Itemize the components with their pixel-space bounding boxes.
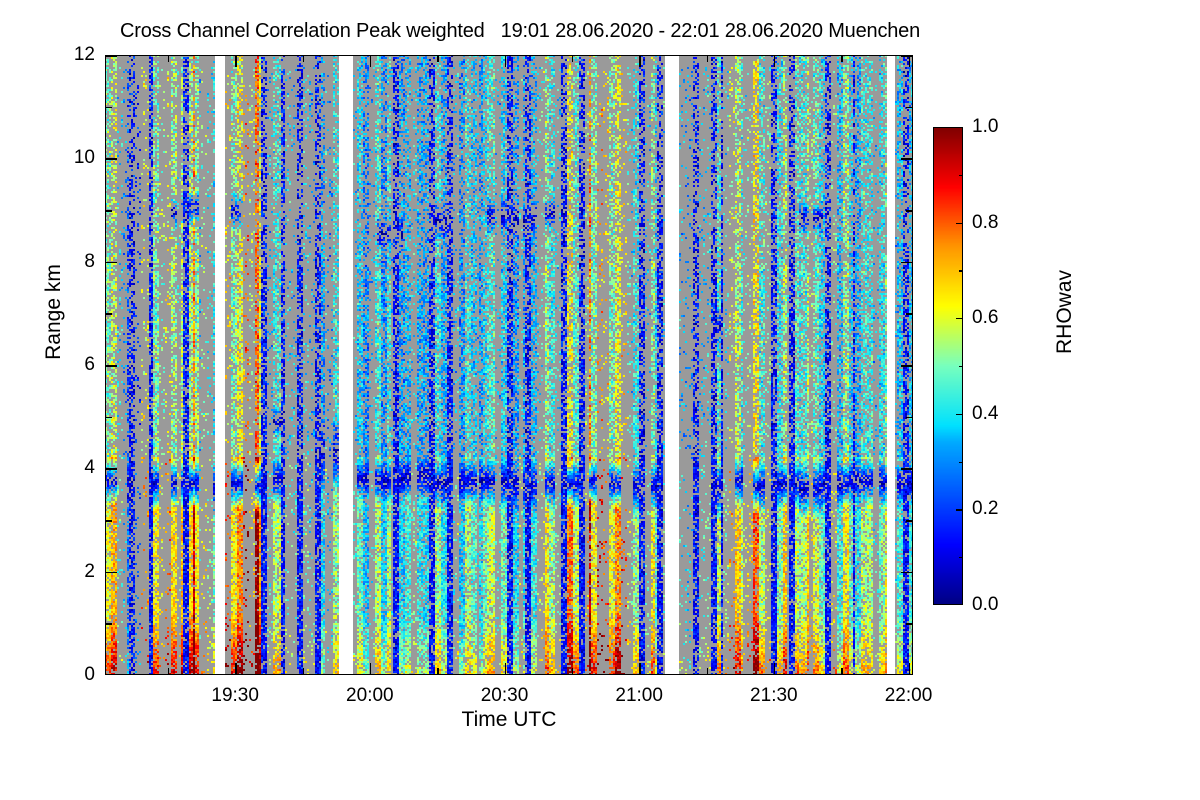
y-tick-mark-right	[906, 107, 913, 109]
x-tick-label: 20:30	[481, 685, 529, 707]
heatmap-canvas	[105, 55, 913, 675]
y-tick-mark-right	[906, 417, 913, 419]
colorbar-minor-tick	[959, 557, 963, 558]
x-tick-mark-top	[437, 55, 439, 62]
y-tick-mark-right	[906, 520, 913, 522]
x-tick-label: 21:00	[615, 685, 663, 707]
y-tick-mark-right	[901, 674, 913, 676]
heatmap-plot-area	[105, 55, 913, 675]
colorbar-tick-label: 0.6	[972, 307, 998, 329]
x-tick-mark-top	[303, 55, 305, 62]
x-tick-mark-top	[572, 55, 574, 62]
x-tick-mark	[235, 663, 237, 675]
colorbar-minor-tick	[959, 270, 963, 271]
y-tick-mark	[105, 365, 117, 367]
x-tick-mark	[572, 668, 574, 675]
x-tick-mark-top	[168, 55, 170, 62]
x-tick-mark	[437, 668, 439, 675]
y-tick-mark	[105, 674, 117, 676]
page-title: Cross Channel Correlation Peak weighted …	[0, 20, 1040, 43]
x-tick-mark-top	[370, 55, 372, 67]
x-tick-mark	[841, 668, 843, 675]
x-axis-label: Time UTC	[105, 708, 913, 732]
colorbar-tick-label: 0.4	[972, 403, 998, 425]
y-tick-mark-right	[901, 55, 913, 57]
colorbar-major-tick	[956, 414, 963, 415]
y-tick-mark	[105, 55, 117, 57]
y-tick-mark-right	[901, 365, 913, 367]
x-tick-mark-top	[774, 55, 776, 67]
x-tick-mark-top	[707, 55, 709, 62]
x-tick-mark	[639, 663, 641, 675]
x-tick-mark	[774, 663, 776, 675]
y-tick-label: 2	[47, 561, 95, 583]
colorbar-minor-tick	[959, 366, 963, 367]
y-tick-mark-right	[901, 262, 913, 264]
y-tick-mark-right	[901, 572, 913, 574]
x-tick-mark-top	[639, 55, 641, 67]
x-tick-mark	[505, 663, 507, 675]
y-tick-mark	[105, 417, 112, 419]
y-tick-label: 4	[47, 457, 95, 479]
colorbar-tick-label: 0.2	[972, 498, 998, 520]
colorbar-major-tick	[956, 509, 963, 510]
y-tick-mark	[105, 107, 112, 109]
x-tick-mark-top	[235, 55, 237, 67]
x-tick-label: 20:00	[346, 685, 394, 707]
y-tick-label: 0	[47, 664, 95, 686]
y-tick-label: 12	[47, 44, 95, 66]
y-tick-mark-right	[906, 210, 913, 212]
colorbar-major-tick	[956, 127, 963, 128]
y-tick-mark-right	[901, 468, 913, 470]
colorbar-major-tick	[956, 318, 963, 319]
colorbar-tick-label: 0.8	[972, 212, 998, 234]
y-tick-mark	[105, 623, 112, 625]
colorbar-tick-label: 1.0	[972, 116, 998, 138]
y-tick-mark	[105, 313, 112, 315]
y-tick-mark-right	[901, 158, 913, 160]
colorbar-major-tick	[956, 223, 963, 224]
x-tick-mark-top	[841, 55, 843, 62]
x-tick-mark	[370, 663, 372, 675]
y-tick-mark	[105, 262, 117, 264]
radar-figure: Cross Channel Correlation Peak weighted …	[0, 0, 1200, 800]
colorbar	[933, 127, 963, 605]
x-tick-label: 21:30	[750, 685, 798, 707]
x-tick-mark	[168, 668, 170, 675]
x-tick-mark-top	[909, 55, 911, 67]
y-tick-mark-right	[906, 623, 913, 625]
y-axis-label: Range km	[42, 212, 66, 412]
x-tick-label: 22:00	[885, 685, 933, 707]
colorbar-minor-tick	[959, 462, 963, 463]
y-tick-mark	[105, 572, 117, 574]
y-tick-mark	[105, 210, 112, 212]
x-tick-mark-top	[505, 55, 507, 67]
y-tick-mark	[105, 158, 117, 160]
x-tick-mark	[707, 668, 709, 675]
colorbar-title: RHOwav	[1053, 222, 1077, 402]
x-tick-mark	[303, 668, 305, 675]
x-tick-label: 19:30	[211, 685, 259, 707]
y-tick-mark	[105, 468, 117, 470]
y-tick-mark	[105, 520, 112, 522]
y-tick-label: 10	[47, 147, 95, 169]
colorbar-minor-tick	[959, 175, 963, 176]
colorbar-major-tick	[956, 604, 963, 605]
y-tick-mark-right	[906, 313, 913, 315]
colorbar-tick-label: 0.0	[972, 594, 998, 616]
